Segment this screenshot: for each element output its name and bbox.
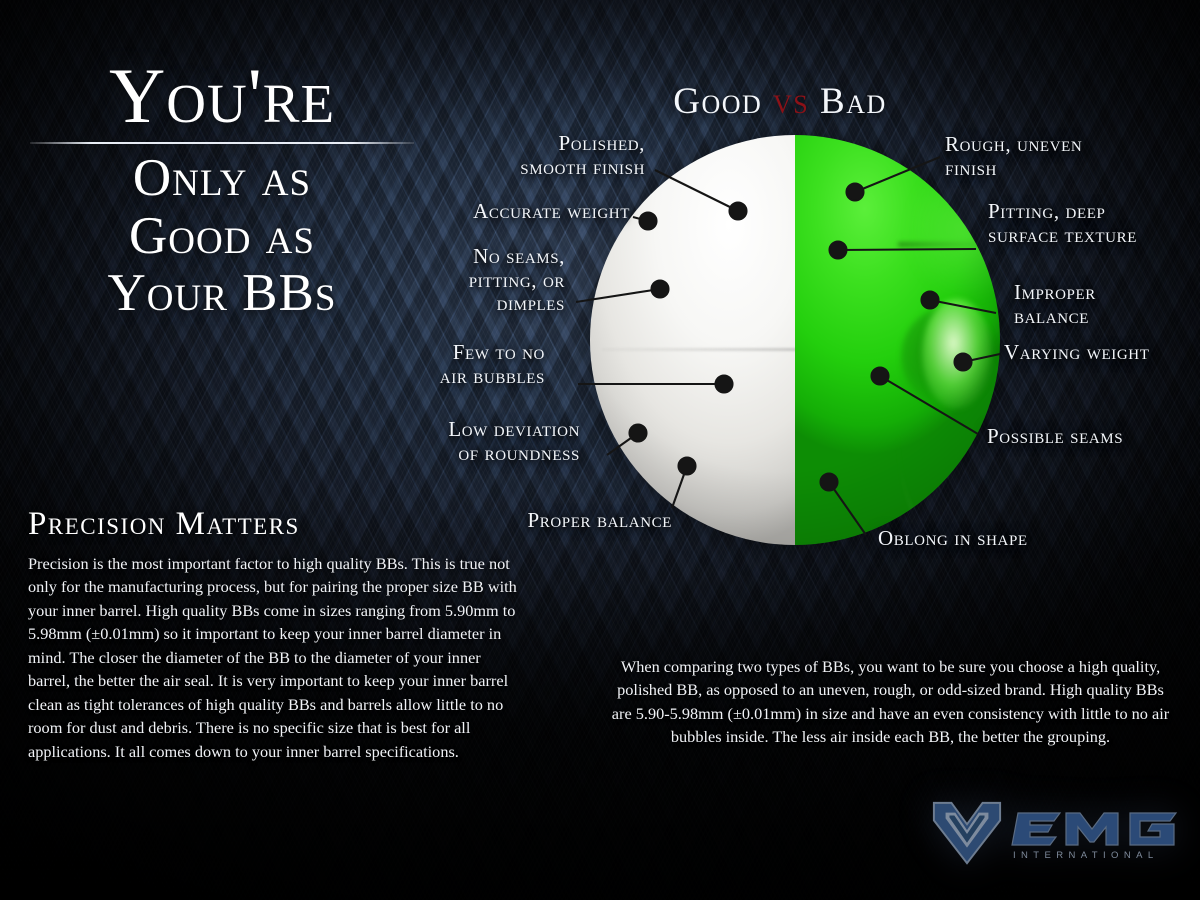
callout-polished-smooth-finish: Polished, smooth finish bbox=[430, 132, 645, 179]
bb-comparison-sphere bbox=[590, 135, 1000, 545]
callout-varying-weight: Varying weight bbox=[1004, 341, 1199, 365]
comparison-summary-body: When comparing two types of BBs, you wan… bbox=[608, 655, 1173, 749]
emg-logo-subtitle: INTERNATIONAL bbox=[1013, 850, 1180, 861]
callout-accurate-weight: Accurate weight bbox=[415, 200, 630, 224]
callout-rough-uneven-finish: Rough, uneven finish bbox=[945, 133, 1175, 180]
callout-improper-balance: Improper balance bbox=[1014, 281, 1194, 328]
headline-line-3: Good as bbox=[22, 208, 422, 265]
callout-oblong-in-shape: Oblong in shape bbox=[878, 527, 1093, 551]
callout-proper-balance: Proper balance bbox=[460, 509, 672, 533]
emg-logo: INTERNATIONAL bbox=[930, 795, 1180, 873]
bb-ball bbox=[590, 135, 1000, 545]
emg-wordmark-block: INTERNATIONAL bbox=[1010, 807, 1180, 861]
comparison-title: Good vs Bad bbox=[600, 80, 960, 123]
infographic-canvas: You're Only as Good as Your BBs Good vs … bbox=[0, 0, 1200, 900]
headline-line-1: You're bbox=[22, 58, 422, 134]
callout-few-to-no-air-bubbles: Few to no air bubbles bbox=[395, 341, 545, 388]
emg-shield-icon bbox=[930, 798, 1004, 870]
emg-wordmark-icon bbox=[1010, 807, 1180, 847]
comparison-title-bad: Bad bbox=[820, 81, 887, 122]
headline-line-4: Your BBs bbox=[22, 265, 422, 322]
callout-possible-seams: Possible seams bbox=[987, 425, 1187, 449]
comparison-title-good: Good bbox=[673, 81, 762, 122]
headline-divider bbox=[30, 142, 414, 144]
callout-pitting-deep-surface-texture: Pitting, deep surface texture bbox=[988, 200, 1188, 247]
precision-matters-heading: Precision Matters bbox=[28, 506, 300, 543]
headline-block: You're Only as Good as Your BBs bbox=[22, 58, 422, 322]
bb-edge-shading bbox=[590, 135, 1000, 545]
headline-line-2: Only as bbox=[22, 150, 422, 207]
precision-matters-body: Precision is the most important factor t… bbox=[28, 552, 518, 763]
comparison-title-vs: vs bbox=[773, 81, 809, 122]
callout-no-seams-pitting-dimples: No seams, pitting, or dimples bbox=[415, 245, 565, 316]
callout-low-deviation-of-roundness: Low deviation of roundness bbox=[380, 418, 580, 465]
